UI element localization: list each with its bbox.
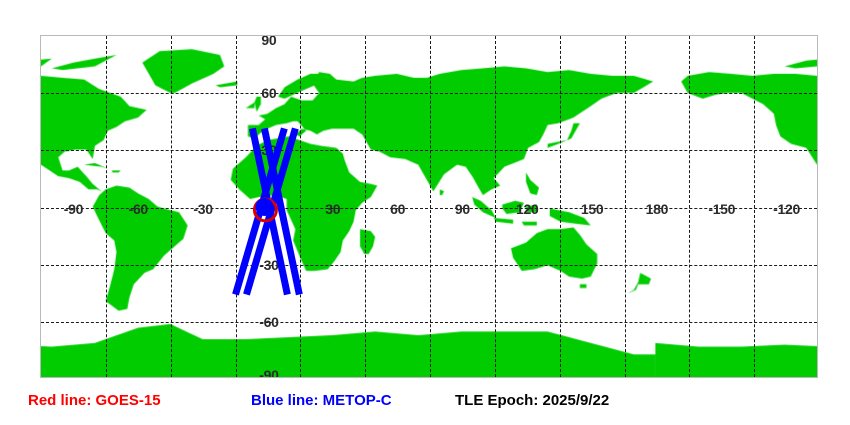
metop-c-marker <box>255 198 273 216</box>
map-plot-frame: -300306090120150180-150-120-90-609060300… <box>40 35 818 378</box>
satellite-ground-track-map: -300306090120150180-150-120-90-609060300… <box>0 0 850 425</box>
legend-blue-line-label: Blue line: METOP-C <box>251 392 392 409</box>
legend-tle-epoch-label: TLE Epoch: 2025/9/22 <box>455 392 609 409</box>
legend-red-line-label: Red line: GOES-15 <box>28 392 161 409</box>
legend: Red line: GOES-15 Blue line: METOP-C TLE… <box>0 392 850 418</box>
ground-track-overlay <box>41 36 817 377</box>
